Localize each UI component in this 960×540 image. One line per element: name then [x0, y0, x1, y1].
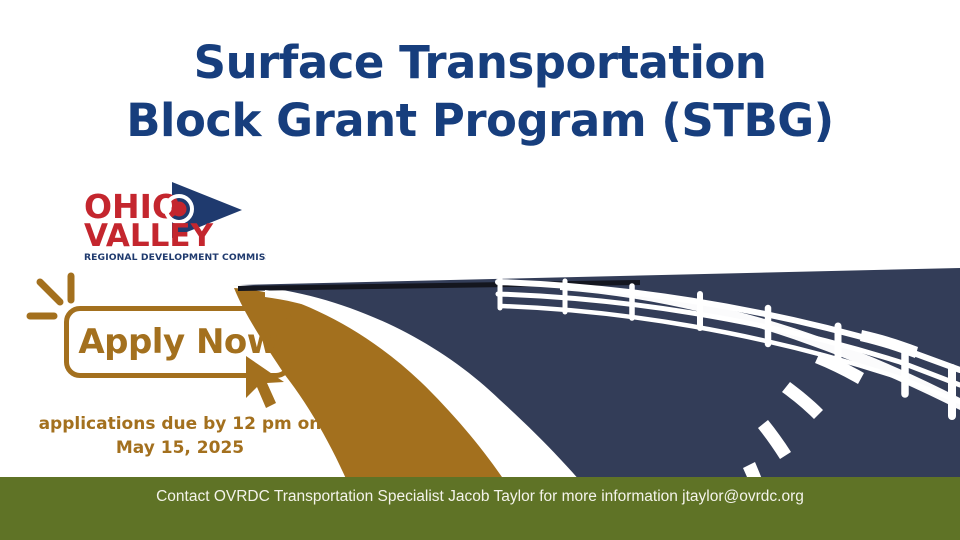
poster-title: Surface Transportation Block Grant Progr… [0, 34, 960, 150]
title-line-1: Surface Transportation [0, 34, 960, 92]
deadline-line-2: May 15, 2025 [20, 436, 340, 460]
apply-now-cta[interactable]: Apply Now [26, 276, 316, 406]
logo-word-valley: VALLEY [84, 218, 214, 254]
ovrdc-logo: OHIO VALLEY REGIONAL DEVELOPMENT COMMISS… [76, 180, 266, 268]
poster-canvas: Surface Transportation Block Grant Progr… [0, 0, 960, 540]
logo-o-dot-icon [172, 202, 187, 217]
arrow-cursor-icon [244, 354, 296, 410]
deadline-line-1: applications due by 12 pm on [20, 412, 340, 436]
deadline-text: applications due by 12 pm on May 15, 202… [20, 412, 340, 460]
logo-tagline: REGIONAL DEVELOPMENT COMMISSION [84, 252, 266, 263]
title-line-2: Block Grant Program (STBG) [0, 92, 960, 150]
sparkle-diagonal [40, 282, 60, 302]
footer-contact-text: Contact OVRDC Transportation Specialist … [0, 477, 960, 517]
